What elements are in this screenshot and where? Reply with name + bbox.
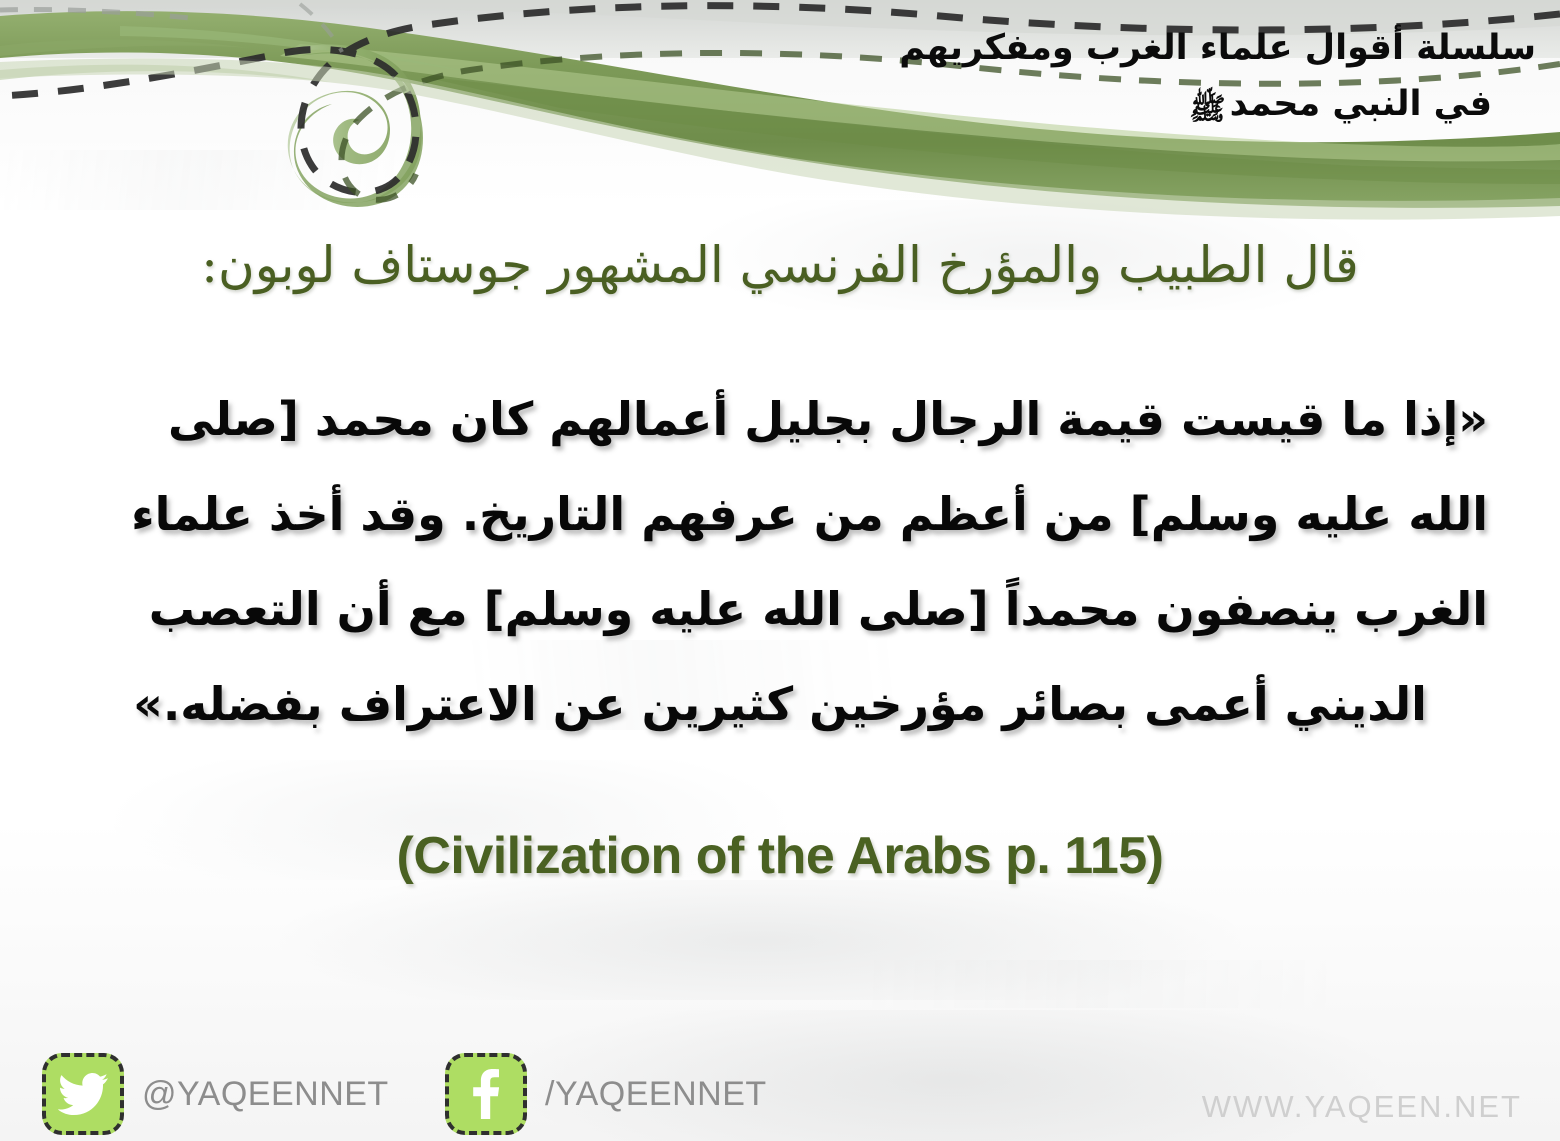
quote-line: «إذا ما قيست قيمة الرجال بجليل أعمالهم ك… (72, 372, 1488, 467)
quote-line: الله عليه وسلم] من أعظم من عرفهم التاريخ… (72, 467, 1488, 562)
quote-card: سلسلة أقوال علماء الغرب ومفكريهم في النب… (0, 0, 1560, 1141)
background-smudge (180, 880, 1340, 1000)
quote-body: «إذا ما قيست قيمة الرجال بجليل أعمالهم ك… (72, 372, 1488, 752)
quote-line-text: الغرب ينصفون محمداً [صلى الله عليه وسلم]… (149, 562, 1488, 657)
facebook-handle[interactable]: /YAQEENNET (545, 1075, 767, 1114)
attribution-subtitle: قال الطبيب والمؤرخ الفرنسي المشهور جوستا… (0, 236, 1560, 294)
banner-title: سلسلة أقوال علماء الغرب ومفكريهم في النب… (896, 24, 1536, 131)
source-citation: (Civilization of the Arabs p. 115) (0, 826, 1560, 886)
website-url[interactable]: WWW.YAQEEN.NET (1202, 1089, 1522, 1125)
top-banner-decoration: سلسلة أقوال علماء الغرب ومفكريهم في النب… (0, 0, 1560, 230)
twitter-link[interactable]: @YAQEENNET (42, 1053, 389, 1135)
footer-bar: @YAQEENNET /YAQEENNET WWW.YAQEEN.NET (0, 1031, 1560, 1141)
quote-line-text: الديني أعمى بصائر مؤرخين كثيرين عن الاعت… (133, 677, 1427, 731)
twitter-bird-icon[interactable] (42, 1053, 124, 1135)
banner-title-line2-text: في النبي محمد (1230, 84, 1492, 124)
banner-title-line1: سلسلة أقوال علماء الغرب ومفكريهم (896, 24, 1536, 74)
sallallahu-alayhi-wasallam-glyph-icon: ﷺ (1189, 89, 1225, 132)
quote-line: الديني أعمى بصائر مؤرخين كثيرين عن الاعت… (72, 657, 1488, 752)
quote-line-text: «إذا ما قيست قيمة الرجال بجليل أعمالهم ك… (168, 372, 1488, 467)
facebook-f-icon[interactable] (445, 1053, 527, 1135)
quote-line-text: الله عليه وسلم] من أعظم من عرفهم التاريخ… (131, 467, 1488, 562)
twitter-handle[interactable]: @YAQEENNET (142, 1075, 389, 1114)
banner-title-line2: في النبي محمدﷺ (896, 80, 1536, 132)
quote-line: الغرب ينصفون محمداً [صلى الله عليه وسلم]… (72, 562, 1488, 657)
facebook-link[interactable]: /YAQEENNET (445, 1053, 767, 1135)
